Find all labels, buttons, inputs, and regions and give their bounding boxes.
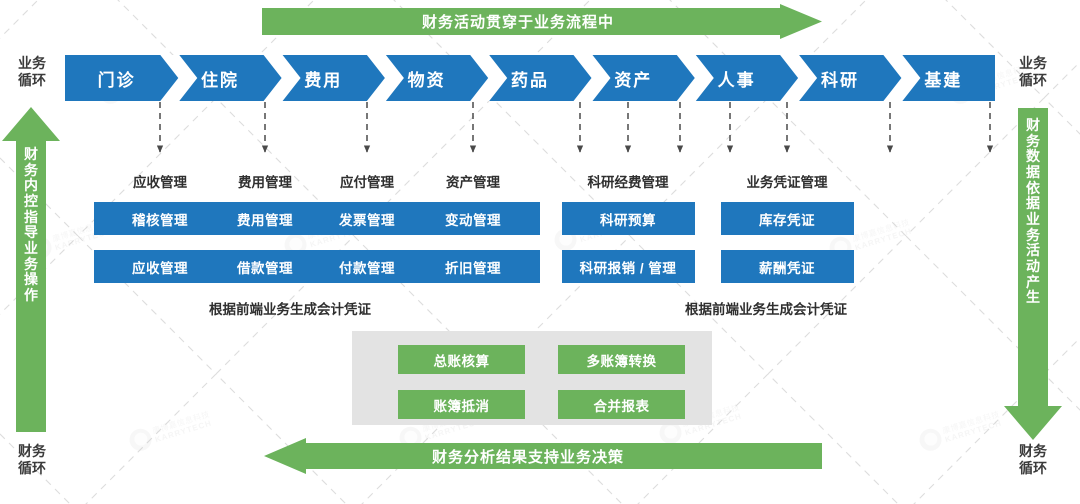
voucher-note: 根据前端业务生成会计凭证: [209, 298, 371, 318]
module-box[interactable]: 折旧管理: [407, 250, 540, 283]
right-vertical-arrow-char: 业: [1026, 212, 1040, 228]
watermark-logo: 康博嘉信息科技KARRYTECH: [917, 408, 1004, 454]
right-vertical-arrow-char: 生: [1026, 290, 1040, 306]
ledger-box-label: 合并报表: [594, 395, 650, 415]
right-vertical-arrow-char: 产: [1026, 275, 1040, 291]
diagram-canvas: 康博嘉信息科技KARRYTECH康博嘉信息科技KARRYTECH康博嘉信息科技K…: [0, 0, 1080, 504]
module-box[interactable]: 薪酬凭证: [721, 250, 854, 283]
module-box-label: 库存凭证: [759, 209, 815, 229]
ledger-box-label: 账簿抵消: [434, 395, 490, 415]
caption-bottom-right: 财务 循环: [1006, 443, 1060, 477]
module-box[interactable]: 变动管理: [407, 202, 540, 235]
right-vertical-arrow-label: 财务数据依据业务活动产生: [1004, 118, 1062, 306]
caption-bottom-left-line1: 财务: [5, 443, 59, 460]
module-column-caption: 资产管理: [446, 171, 500, 191]
process-chevron-bar: 门诊住院费用物资药品资产人事科研基建: [65, 55, 995, 101]
left-vertical-arrow-char: 务: [24, 257, 38, 273]
ledger-box[interactable]: 总账核算: [398, 345, 525, 374]
left-vertical-arrow: 财务内控指导业务操作: [2, 107, 60, 432]
voucher-note: 根据前端业务生成会计凭证: [685, 298, 847, 318]
module-column-caption: 应付管理: [340, 171, 394, 191]
left-vertical-arrow-char: 导: [24, 225, 38, 241]
right-vertical-arrow-char: 务: [1026, 228, 1040, 244]
left-vertical-arrow-char: 财: [24, 147, 38, 163]
module-box-label: 应收管理: [132, 257, 188, 277]
left-vertical-arrow-char: 业: [24, 241, 38, 257]
caption-bottom-right-line2: 循环: [1006, 460, 1060, 477]
module-box-label: 借款管理: [237, 257, 293, 277]
caption-bottom-right-line1: 财务: [1006, 443, 1060, 460]
caption-top-right-line2: 循环: [1006, 72, 1060, 89]
top-banner-arrow: 财务活动贯穿于业务流程中: [262, 4, 822, 39]
right-vertical-arrow-char: 依: [1026, 181, 1040, 197]
module-box[interactable]: 科研报销 / 管理: [562, 250, 695, 283]
watermark-mark-icon: [917, 426, 944, 453]
left-vertical-arrow-char: 内: [24, 178, 38, 194]
caption-bottom-left-line2: 循环: [5, 460, 59, 477]
left-vertical-arrow-char: 控: [24, 194, 38, 210]
bottom-banner-label: 财务分析结果支持业务决策: [432, 438, 624, 474]
module-box[interactable]: 科研预算: [562, 202, 695, 235]
left-vertical-arrow-label: 财务内控指导业务操作: [2, 147, 60, 304]
left-vertical-arrow-char: 指: [24, 210, 38, 226]
left-vertical-arrow-char: 务: [24, 163, 38, 179]
module-box-label: 发票管理: [339, 209, 395, 229]
module-box-label: 科研报销 / 管理: [580, 257, 677, 277]
caption-top-right-line1: 业务: [1006, 55, 1060, 72]
left-vertical-arrow-char: 作: [24, 288, 38, 304]
chevron-bar-shape: [65, 55, 995, 101]
ledger-box[interactable]: 合并报表: [558, 390, 685, 419]
ledger-box[interactable]: 多账簿转换: [558, 345, 685, 374]
caption-top-left-line1: 业务: [5, 55, 59, 72]
right-vertical-arrow-char: 数: [1026, 149, 1040, 165]
ledger-box-label: 总账核算: [434, 350, 490, 370]
right-vertical-arrow-char: 务: [1026, 134, 1040, 150]
ledger-box[interactable]: 账簿抵消: [398, 390, 525, 419]
module-box-label: 稽核管理: [132, 209, 188, 229]
module-column-caption: 费用管理: [238, 171, 292, 191]
module-box-label: 薪酬凭证: [759, 257, 815, 277]
watermark-logo: 康博嘉信息科技KARRYTECH: [127, 408, 214, 454]
module-box-label: 科研预算: [600, 209, 656, 229]
module-column-caption: 业务凭证管理: [747, 171, 828, 191]
right-vertical-arrow-char: 据: [1026, 165, 1040, 181]
module-box-label: 费用管理: [237, 209, 293, 229]
module-box[interactable]: 库存凭证: [721, 202, 854, 235]
module-column-caption: 应收管理: [133, 171, 187, 191]
caption-top-right: 业务 循环: [1006, 55, 1060, 89]
ledger-box-label: 多账簿转换: [587, 350, 657, 370]
module-box-label: 付款管理: [339, 257, 395, 277]
module-column-caption: 科研经费管理: [588, 171, 669, 191]
watermark-mark-icon: [127, 426, 154, 453]
right-vertical-arrow: 财务数据依据业务活动产生: [1004, 108, 1062, 440]
watermark-text: 康博嘉信息科技KARRYTECH: [151, 410, 213, 445]
right-vertical-arrow-char: 财: [1026, 118, 1040, 134]
module-box-label: 折旧管理: [445, 257, 501, 277]
watermark-text: 康博嘉信息科技KARRYTECH: [851, 218, 913, 253]
watermark-text: 康博嘉信息科技KARRYTECH: [941, 410, 1003, 445]
dashed-connectors: [0, 100, 1080, 172]
top-banner-label: 财务活动贯穿于业务流程中: [422, 4, 614, 39]
right-vertical-arrow-char: 动: [1026, 259, 1040, 275]
module-box-label: 变动管理: [445, 209, 501, 229]
right-vertical-arrow-char: 据: [1026, 196, 1040, 212]
caption-bottom-left: 财务 循环: [5, 443, 59, 477]
caption-top-left: 业务 循环: [5, 55, 59, 89]
right-vertical-arrow-char: 活: [1026, 243, 1040, 259]
bottom-banner-arrow: 财务分析结果支持业务决策: [264, 438, 822, 474]
left-vertical-arrow-char: 操: [24, 272, 38, 288]
caption-top-left-line2: 循环: [5, 72, 59, 89]
